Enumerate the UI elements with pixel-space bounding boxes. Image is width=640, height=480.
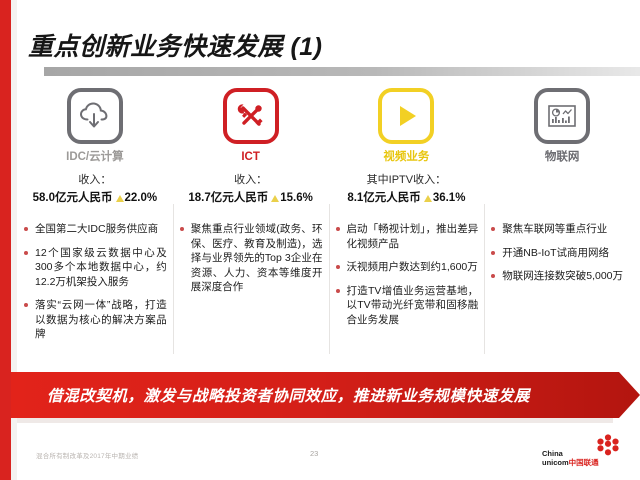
category-label-iot: 物联网 [490, 150, 634, 164]
bullet-list-video: 启动「畅视计划」，推出差异化视频产品 沃视频用户数达到约1,600万 打造TV增… [335, 222, 479, 327]
revenue-label-ict: 收入： [179, 173, 323, 188]
category-label-idc: IDC/云计算 [23, 150, 167, 164]
summary-banner-text: 借混改契机，激发与战略投资者协同效应，推进新业务规模快速发展 [47, 384, 530, 406]
category-label-ict: ICT [179, 150, 323, 164]
revenue-amount-idc: 58.0亿元人民币 [33, 192, 113, 204]
title-underline-bar [44, 67, 640, 76]
growth-rate-ict: 15.6% [280, 192, 313, 204]
list-item: 12个国家级云数据中心及300多个本地数据中心，约12.2万机架投入服务 [23, 246, 167, 290]
tools-icon [223, 88, 279, 144]
column-ict: ICT 收入： 18.7亿元人民币15.6% 聚焦重点行业领域(政务、环保、医疗… [173, 86, 329, 366]
footer-note: 混合所有制改革及2017年中期业绩 [36, 450, 138, 460]
unicom-wordmark-line2: unicom中国联通 [542, 459, 599, 468]
unicom-wordmark-en: unicom [542, 458, 569, 467]
bullet-list-ict: 聚焦重点行业领域(政务、环保、医疗、教育及制造)，选择与业界领先的Top 3企业… [179, 222, 323, 295]
bullet-list-idc: 全国第二大IDC服务供应商 12个国家级云数据中心及300多个本地数据中心，约1… [23, 222, 167, 342]
page-number: 23 [310, 449, 318, 458]
bullet-list-iot: 聚焦车联网等重点行业 开通NB-IoT试商用网络 物联网连接数突破5,000万 [490, 222, 634, 284]
summary-banner: 借混改契机，激发与战略投资者协同效应，推进新业务规模快速发展 [11, 372, 640, 418]
content-columns: IDC/云计算 收入： 58.0亿元人民币22.0% 全国第二大IDC服务供应商… [17, 86, 640, 366]
up-arrow-icon [116, 195, 124, 202]
revenue-value-idc: 58.0亿元人民币22.0% [23, 191, 167, 206]
category-label-video: 视频业务 [335, 150, 479, 164]
column-video: 视频业务 其中IPTV收入： 8.1亿元人民币36.1% 启动「畅视计划」，推出… [329, 86, 485, 366]
list-item: 开通NB-IoT试商用网络 [490, 246, 634, 261]
list-item: 打造TV增值业务运营基地，以TV带动光纤宽带和固移融合业务发展 [335, 284, 479, 328]
list-item: 启动「畅视计划」，推出差异化视频产品 [335, 222, 479, 251]
list-item: 沃视频用户数达到约1,600万 [335, 260, 479, 275]
list-item: 全国第二大IDC服务供应商 [23, 222, 167, 237]
title-block: 重点创新业务快速发展 (1) [28, 30, 628, 82]
analytics-chart-icon [534, 88, 590, 144]
left-red-stripe [0, 0, 11, 480]
revenue-value-ict: 18.7亿元人民币15.6% [179, 191, 323, 206]
revenue-label-video: 其中IPTV收入： [335, 173, 479, 188]
up-arrow-icon [424, 195, 432, 202]
unicom-wordmark: China unicom中国联通 [542, 450, 599, 467]
unicom-wordmark-cn: 中国联通 [569, 458, 599, 467]
revenue-label-idc: 收入： [23, 173, 167, 188]
slide-canvas: 重点创新业务快速发展 (1) IDC/云计算 收入： 58.0亿元人民币22.0… [0, 0, 640, 480]
list-item: 聚焦车联网等重点行业 [490, 222, 634, 237]
growth-rate-video: 36.1% [433, 192, 466, 204]
column-idc: IDC/云计算 收入： 58.0亿元人民币22.0% 全国第二大IDC服务供应商… [17, 86, 173, 366]
revenue-amount-ict: 18.7亿元人民币 [188, 192, 268, 204]
revenue-amount-video: 8.1亿元人民币 [347, 192, 421, 204]
banner-shadow [17, 418, 613, 423]
list-item: 落实“云网一体”战略，打造以数据为核心的解决方案品牌 [23, 298, 167, 342]
page-title: 重点创新业务快速发展 (1) [28, 30, 628, 64]
revenue-value-video: 8.1亿元人民币36.1% [335, 191, 479, 206]
list-item: 聚焦重点行业领域(政务、环保、医疗、教育及制造)，选择与业界领先的Top 3企业… [179, 222, 323, 295]
cloud-download-icon [67, 88, 123, 144]
china-unicom-logo: China unicom中国联通 [542, 434, 628, 468]
up-arrow-icon [271, 195, 279, 202]
list-item: 物联网连接数突破5,000万 [490, 269, 634, 284]
play-video-icon [378, 88, 434, 144]
growth-rate-idc: 22.0% [125, 192, 158, 204]
column-iot: 物联网 聚焦车联网等重点行业 开通NB-IoT试商用网络 物联网连接数突破5,0… [484, 86, 640, 366]
